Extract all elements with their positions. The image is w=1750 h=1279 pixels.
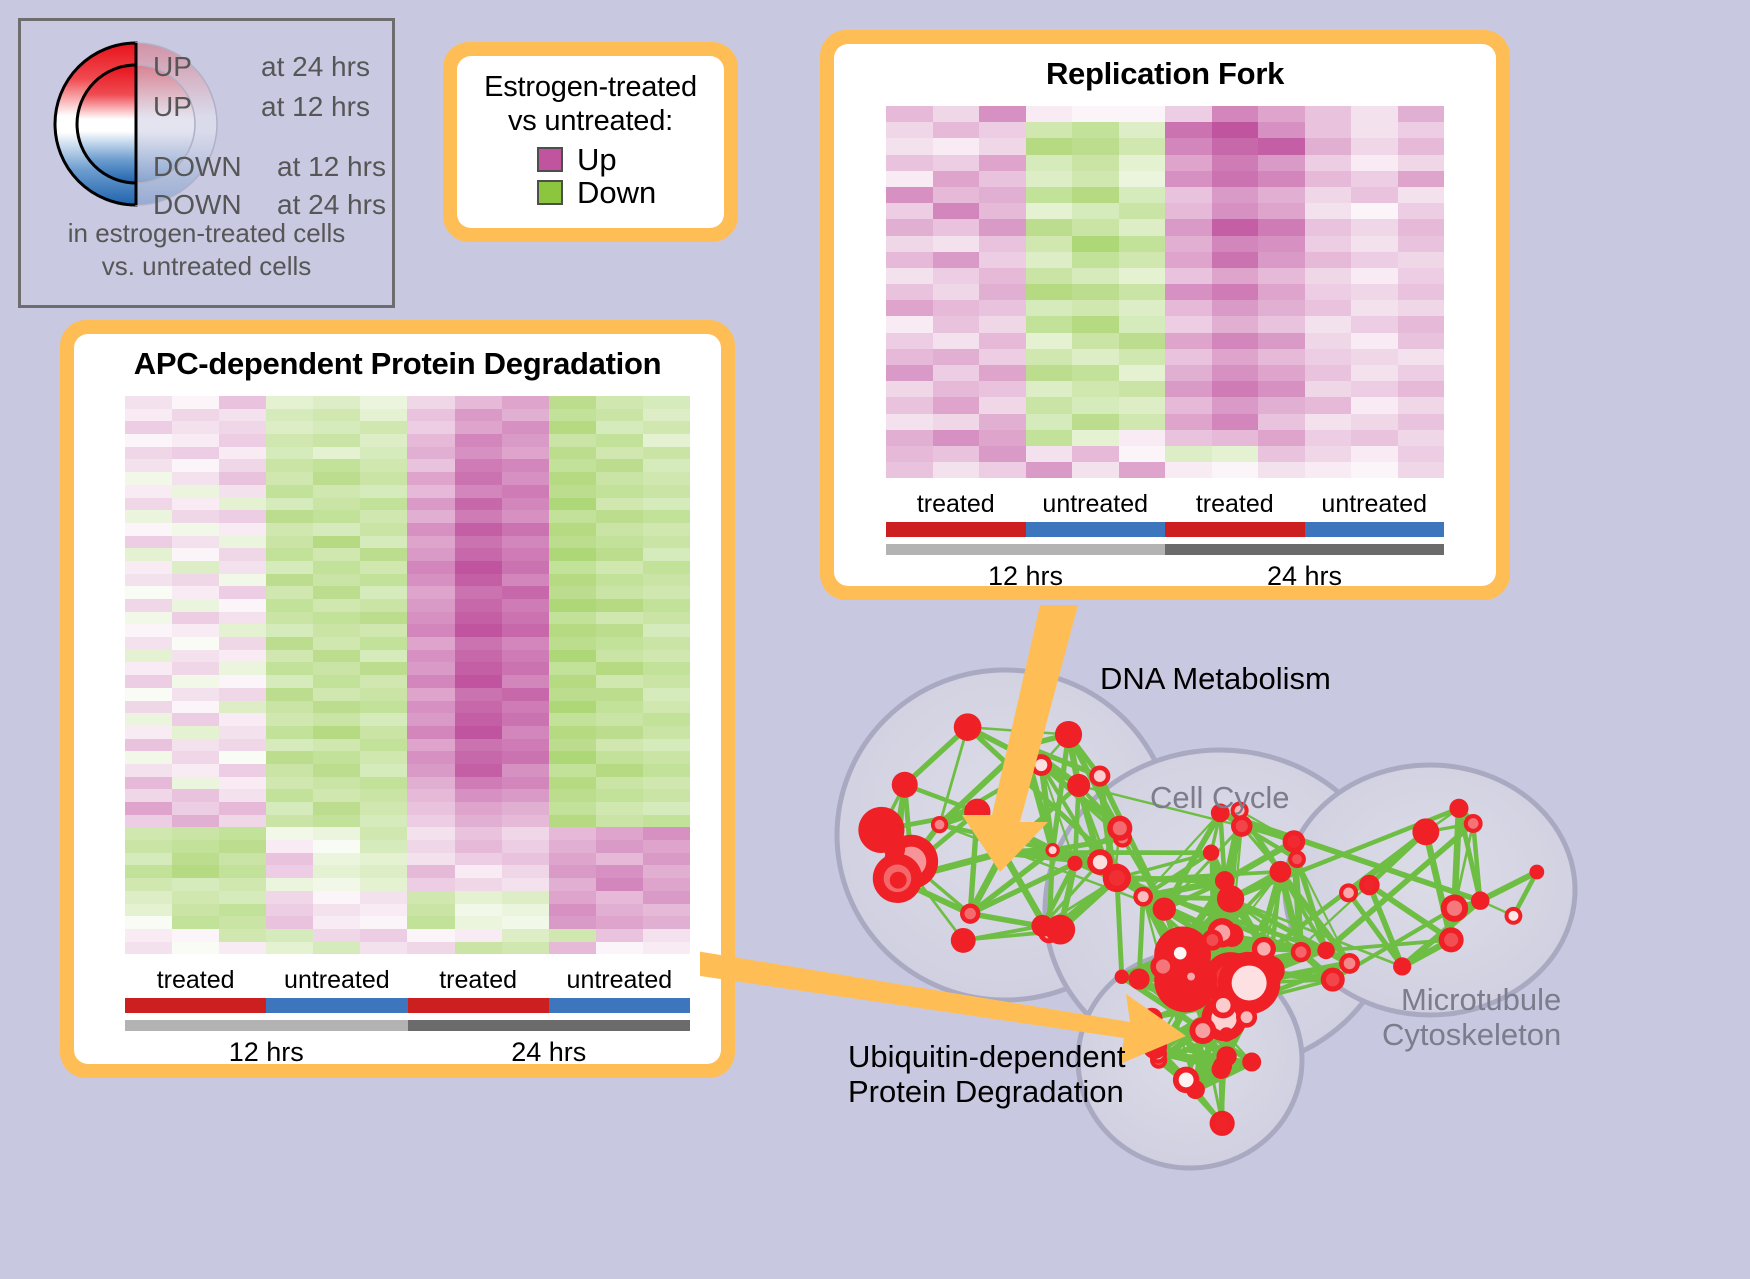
heatmap-cell [502, 739, 549, 752]
heatmap-cell [1212, 171, 1259, 187]
node-outer-circle [884, 839, 905, 860]
heatmap-cell [643, 434, 690, 447]
heatmap-cell [313, 599, 360, 612]
heatmap-cell [455, 434, 502, 447]
heatmap-cell [549, 498, 596, 511]
heatmap-cell [979, 333, 1026, 349]
heatmap-cell [643, 447, 690, 460]
network-node-dna-metabolism[interactable] [884, 839, 905, 860]
heatmap-cell [1351, 430, 1398, 446]
heatmap-cell [1305, 414, 1352, 430]
network-node-ubiquitin[interactable] [1189, 1017, 1216, 1044]
heatmap-cell [360, 662, 407, 675]
network-node-dna-metabolism[interactable] [931, 816, 948, 833]
heatmap-cell [933, 219, 980, 235]
heatmap-cell [407, 574, 454, 587]
node-outer-circle [1213, 1056, 1232, 1075]
heatmap-cell [643, 739, 690, 752]
heatmap-cell [933, 430, 980, 446]
heatmap-cell [1398, 316, 1445, 332]
heatmap-cell [360, 916, 407, 929]
network-node-dna-metabolism[interactable] [892, 772, 918, 798]
heatmap-cell [407, 485, 454, 498]
heatmap-cell [643, 675, 690, 688]
heatmap-cell [407, 409, 454, 422]
heatmap-cell [1119, 316, 1166, 332]
network-node-dna-metabolism[interactable] [954, 713, 982, 741]
group-bar-untreated-1 [1026, 522, 1166, 537]
heatmap-cell [172, 827, 219, 840]
heatmap-cell [643, 498, 690, 511]
heatmap-cell [219, 447, 266, 460]
cluster-label-microtubule: Microtubule Cytoskeleton [1382, 983, 1561, 1052]
heatmap-cell [596, 637, 643, 650]
network-node-dna-metabolism[interactable] [1067, 774, 1090, 797]
heatmap-cell [1072, 462, 1119, 478]
network-node-microtubule[interactable] [1471, 891, 1489, 909]
heatmap-cell [172, 713, 219, 726]
heatmap-cell [1212, 300, 1259, 316]
heatmap-cell [360, 624, 407, 637]
heatmap-cell [596, 447, 643, 460]
heatmap-cell [219, 713, 266, 726]
heatmap-cell [407, 929, 454, 942]
network-node-cell-cycle[interactable] [1252, 937, 1276, 961]
node-outer-circle [890, 872, 907, 889]
heatmap-cell [172, 586, 219, 599]
heatmap-cell [1258, 203, 1305, 219]
group-bar-treated-0 [886, 522, 1026, 537]
heatmap-cell [1398, 122, 1445, 138]
network-node-ubiquitin[interactable] [1143, 1034, 1168, 1059]
network-node-dna-metabolism[interactable] [994, 844, 1012, 862]
heatmap-cell [502, 574, 549, 587]
network-node-cell-cycle[interactable] [1184, 970, 1198, 984]
heatmap-cell [1165, 284, 1212, 300]
heatmap-cell [1305, 106, 1352, 122]
network-node-ubiquitin[interactable] [1236, 1007, 1257, 1028]
heatmap-cell [643, 650, 690, 663]
heatmap-cell [125, 688, 172, 701]
heatmap-cell [549, 523, 596, 536]
heatmap-cell [455, 777, 502, 790]
legend-swatch-up [537, 147, 563, 172]
heatmap-cell [407, 942, 454, 955]
network-node-cell-cycle[interactable] [1202, 929, 1223, 950]
heatmap-cell [1072, 316, 1119, 332]
heatmap-cell [502, 498, 549, 511]
network-node-microtubule[interactable] [1505, 907, 1523, 925]
heatmap-cell [1072, 203, 1119, 219]
color-key-footer: in estrogen-treated cells vs. untreated … [21, 217, 392, 284]
heatmap-cell [1072, 122, 1119, 138]
heatmap-cell [933, 397, 980, 413]
time-bar-12hrs [125, 1020, 408, 1031]
heatmap-cell [886, 430, 933, 446]
heatmap-cell [407, 434, 454, 447]
heatmap-cell [219, 459, 266, 472]
heatmap-cell [407, 777, 454, 790]
replication-fork-panel: Replication Fork treated untreated treat… [820, 30, 1510, 600]
node-inner-circle [935, 820, 945, 830]
network-node-cell-cycle[interactable] [1215, 871, 1235, 891]
heatmap-cell [313, 612, 360, 625]
time-label-24hrs: 24 hrs [1165, 561, 1444, 592]
heatmap-cell [1305, 187, 1352, 203]
network-node-dna-metabolism[interactable] [964, 799, 990, 825]
heatmap-cell [219, 612, 266, 625]
heatmap-cell [549, 688, 596, 701]
heatmap-cell [596, 650, 643, 663]
heatmap-cell [407, 865, 454, 878]
node-outer-circle [1242, 1053, 1261, 1072]
network-node-microtubule[interactable] [1529, 865, 1544, 880]
heatmap-cell [125, 459, 172, 472]
heatmap-cell [266, 929, 313, 942]
heatmap-cell [596, 599, 643, 612]
heatmap-cell [549, 434, 596, 447]
heatmap-cell [933, 365, 980, 381]
heatmap-cell [266, 713, 313, 726]
heatmap-cell [1258, 236, 1305, 252]
heatmap-cell [455, 815, 502, 828]
heatmap-cell [1351, 333, 1398, 349]
group-bar-treated-2 [1165, 522, 1305, 537]
heatmap-cell [407, 802, 454, 815]
heatmap-cell [313, 472, 360, 485]
key-row-up-24-direction: UP [153, 51, 192, 83]
heatmap-cell [549, 701, 596, 714]
heatmap-cell [1026, 365, 1073, 381]
heatmap-cell [549, 815, 596, 828]
network-node-cell-cycle[interactable] [1129, 969, 1150, 990]
heatmap-cell [886, 446, 933, 462]
group-label-treated-12: treated [886, 490, 1026, 519]
network-node-dna-metabolism[interactable] [951, 928, 976, 953]
node-outer-circle [1129, 969, 1150, 990]
network-node-microtubule[interactable] [1393, 957, 1411, 975]
heatmap-cell [125, 739, 172, 752]
heatmap-cell [502, 612, 549, 625]
heatmap-cell [407, 396, 454, 409]
heatmap-cell [1305, 397, 1352, 413]
heatmap-cell [502, 485, 549, 498]
heatmap-cell [886, 462, 933, 478]
heatmap-cell [407, 789, 454, 802]
heatmap-cell [596, 777, 643, 790]
heatmap-cell [549, 942, 596, 955]
heatmap-cell [549, 840, 596, 853]
heatmap-cell [1258, 252, 1305, 268]
heatmap-cell [172, 561, 219, 574]
heatmap-cell [172, 916, 219, 929]
apc-group-labels: treated untreated treated untreated [125, 966, 690, 995]
network-node-cell-cycle[interactable] [1288, 850, 1306, 868]
network-node-microtubule[interactable] [1412, 818, 1439, 845]
heatmap-cell [596, 409, 643, 422]
heatmap-cell [1119, 284, 1166, 300]
node-inner-circle [1195, 1023, 1210, 1038]
heatmap-cell [549, 789, 596, 802]
apc-heatmap [125, 396, 690, 954]
heatmap-cell [313, 929, 360, 942]
heatmap-cell [1398, 381, 1445, 397]
heatmap-cell [1351, 300, 1398, 316]
node-outer-circle [1203, 845, 1219, 861]
heatmap-cell [549, 637, 596, 650]
network-node-cell-cycle[interactable] [1283, 830, 1306, 853]
heatmap-cell [502, 942, 549, 955]
heatmap-cell [455, 713, 502, 726]
network-node-cell-cycle[interactable] [1203, 845, 1219, 861]
heatmap-cell [549, 586, 596, 599]
network-node-ubiquitin[interactable] [1219, 1027, 1234, 1042]
time-bar-12hrs [886, 544, 1165, 555]
heatmap-cell [1351, 397, 1398, 413]
heatmap-cell [1212, 414, 1259, 430]
network-node-cell-cycle[interactable] [1321, 968, 1345, 992]
cluster-label-ubiquitin-line1: Ubiquitin-dependent [848, 1040, 1126, 1075]
heatmap-cell [360, 434, 407, 447]
heatmap-cell [1026, 316, 1073, 332]
network-node-dna-metabolism[interactable] [1089, 765, 1110, 786]
heatmap-cell [219, 675, 266, 688]
heatmap-cell [933, 349, 980, 365]
heatmap-cell [549, 853, 596, 866]
heatmap-cell [219, 472, 266, 485]
heatmap-cell [266, 865, 313, 878]
legend-title: Estrogen-treated vs untreated: [467, 70, 714, 138]
heatmap-cell [549, 802, 596, 815]
network-node-ubiquitin[interactable] [1210, 1111, 1235, 1136]
heatmap-cell [125, 561, 172, 574]
heatmap-cell [266, 421, 313, 434]
heatmap-cell [219, 536, 266, 549]
heatmap-cell [1165, 106, 1212, 122]
heatmap-cell [125, 904, 172, 917]
network-node-microtubule[interactable] [1464, 814, 1483, 833]
heatmap-cell [219, 586, 266, 599]
node-outer-circle [1219, 1027, 1234, 1042]
node-inner-circle [1468, 818, 1479, 829]
heatmap-cell [455, 865, 502, 878]
heatmap-cell [502, 624, 549, 637]
heatmap-cell [1212, 333, 1259, 349]
network-node-cell-cycle[interactable] [1153, 897, 1176, 920]
heatmap-cell [596, 510, 643, 523]
heatmap-cell [549, 409, 596, 422]
heatmap-cell [219, 789, 266, 802]
heatmap-cell [360, 777, 407, 790]
network-node-dna-metabolism[interactable] [1011, 733, 1036, 758]
heatmap-cell [596, 498, 643, 511]
heatmap-cell [172, 434, 219, 447]
heatmap-cell [979, 106, 1026, 122]
heatmap-cell [219, 396, 266, 409]
heatmap-cell [643, 396, 690, 409]
heatmap-cell [1165, 365, 1212, 381]
heatmap-cell [219, 929, 266, 942]
network-node-microtubule[interactable] [1441, 894, 1468, 921]
heatmap-cell [1119, 203, 1166, 219]
heatmap-cell [1398, 365, 1445, 381]
heatmap-cell [455, 447, 502, 460]
heatmap-cell [1398, 187, 1445, 203]
heatmap-cell [1165, 397, 1212, 413]
heatmap-cell [1165, 219, 1212, 235]
heatmap-cell [360, 599, 407, 612]
heatmap-cell [596, 612, 643, 625]
network-node-dna-metabolism[interactable] [1067, 856, 1082, 871]
apc-time-labels: 12 hrs 24 hrs [125, 1037, 690, 1068]
heatmap-cell [549, 891, 596, 904]
node-inner-circle [1326, 973, 1339, 986]
network-node-microtubule[interactable] [1339, 883, 1358, 902]
heatmap-cell [313, 510, 360, 523]
heatmap-cell [549, 865, 596, 878]
heatmap-cell [1398, 219, 1445, 235]
heatmap-cell [313, 891, 360, 904]
heatmap-cell [502, 916, 549, 929]
network-node-dna-metabolism[interactable] [1031, 915, 1053, 937]
heatmap-cell [643, 574, 690, 587]
heatmap-cell [455, 536, 502, 549]
heatmap-cell [933, 252, 980, 268]
heatmap-cell [1026, 284, 1073, 300]
group-label-untreated-12: untreated [1026, 490, 1166, 519]
heatmap-cell [313, 688, 360, 701]
network-node-ubiquitin[interactable] [1183, 988, 1200, 1005]
heatmap-cell [266, 510, 313, 523]
heatmap-cell [360, 789, 407, 802]
network-node-ubiquitin[interactable] [1213, 1056, 1232, 1075]
heatmap-cell [1398, 397, 1445, 413]
network-node-cell-cycle[interactable] [1291, 942, 1311, 962]
network-node-cell-cycle[interactable] [1339, 953, 1360, 974]
cluster-label-ubiquitin-line2: Protein Degradation [848, 1075, 1126, 1110]
heatmap-cell [502, 561, 549, 574]
heatmap-cell [360, 650, 407, 663]
heatmap-cell [125, 612, 172, 625]
heatmap-cell [1026, 236, 1073, 252]
network-node-cell-cycle[interactable] [1115, 970, 1129, 984]
heatmap-cell [313, 498, 360, 511]
network-node-dna-metabolism[interactable] [1030, 754, 1052, 776]
heatmap-cell [1072, 155, 1119, 171]
heatmap-cell [407, 726, 454, 739]
network-node-dna-metabolism[interactable] [1055, 721, 1082, 748]
heatmap-cell [360, 396, 407, 409]
network-node-cell-cycle[interactable] [1169, 942, 1192, 965]
heatmap-cell [219, 916, 266, 929]
node-inner-circle [1288, 835, 1301, 848]
cluster-label-dna-metabolism: DNA Metabolism [1100, 662, 1331, 697]
network-diagram [780, 620, 1750, 1279]
heatmap-cell [1212, 397, 1259, 413]
heatmap-cell [407, 853, 454, 866]
heatmap-cell [219, 942, 266, 955]
heatmap-cell [125, 853, 172, 866]
heatmap-cell [549, 904, 596, 917]
heatmap-cell [172, 447, 219, 460]
heatmap-cell [266, 815, 313, 828]
heatmap-cell [1026, 155, 1073, 171]
network-node-microtubule[interactable] [1359, 875, 1380, 896]
heatmap-cell [360, 536, 407, 549]
group-label-treated-12: treated [125, 966, 266, 995]
heatmap-cell [933, 414, 980, 430]
heatmap-cell [266, 789, 313, 802]
network-node-cell-cycle[interactable] [1269, 861, 1291, 883]
network-node-ubiquitin[interactable] [1141, 1008, 1162, 1029]
legend-items: Up Down [467, 144, 714, 208]
heatmap-cell [125, 434, 172, 447]
network-node-dna-metabolism[interactable] [890, 872, 907, 889]
heatmap-cell [643, 459, 690, 472]
heatmap-cell [313, 675, 360, 688]
heatmap-cell [1119, 446, 1166, 462]
heatmap-cell [313, 840, 360, 853]
heatmap-cell [407, 523, 454, 536]
heatmap-cell [549, 421, 596, 434]
heatmap-cell [596, 434, 643, 447]
heatmap-cell [1165, 316, 1212, 332]
heatmap-cell [1026, 138, 1073, 154]
network-node-ubiquitin[interactable] [1173, 1067, 1200, 1094]
node-outer-circle [1471, 891, 1489, 909]
heatmap-cell [502, 777, 549, 790]
heatmap-cell [502, 586, 549, 599]
heatmap-cell [125, 447, 172, 460]
node-inner-circle [1017, 739, 1031, 753]
heatmap-cell [455, 485, 502, 498]
heatmap-cell [266, 802, 313, 815]
heatmap-cell [455, 942, 502, 955]
heatmap-cell [933, 171, 980, 187]
network-node-dna-metabolism[interactable] [1107, 816, 1132, 841]
network-node-dna-metabolism[interactable] [960, 903, 980, 923]
heatmap-cell [125, 777, 172, 790]
network-node-microtubule[interactable] [1439, 927, 1464, 952]
network-node-cell-cycle[interactable] [1103, 864, 1131, 892]
heatmap-cell [1305, 381, 1352, 397]
network-node-cell-cycle[interactable] [1133, 887, 1153, 907]
heatmap-cell [979, 446, 1026, 462]
heatmap-cell [313, 751, 360, 764]
heatmap-cell [502, 675, 549, 688]
node-outer-circle [1449, 799, 1468, 818]
heatmap-cell [125, 548, 172, 561]
heatmap-cell [455, 396, 502, 409]
network-node-cell-cycle[interactable] [1317, 942, 1335, 960]
heatmap-cell [455, 586, 502, 599]
heatmap-cell [266, 840, 313, 853]
network-node-ubiquitin[interactable] [1242, 1053, 1261, 1072]
heatmap-cell [313, 396, 360, 409]
heatmap-cell [219, 751, 266, 764]
heatmap-cell [125, 498, 172, 511]
group-bar-untreated-3 [549, 998, 690, 1013]
heatmap-cell [455, 916, 502, 929]
node-inner-circle [1174, 947, 1187, 960]
network-node-dna-metabolism[interactable] [1045, 843, 1059, 857]
network-node-microtubule[interactable] [1449, 799, 1468, 818]
heatmap-cell [1398, 268, 1445, 284]
network-node-ubiquitin[interactable] [1210, 992, 1236, 1018]
heatmap-cell [502, 548, 549, 561]
heatmap-cell [407, 701, 454, 714]
heatmap-cell [360, 827, 407, 840]
